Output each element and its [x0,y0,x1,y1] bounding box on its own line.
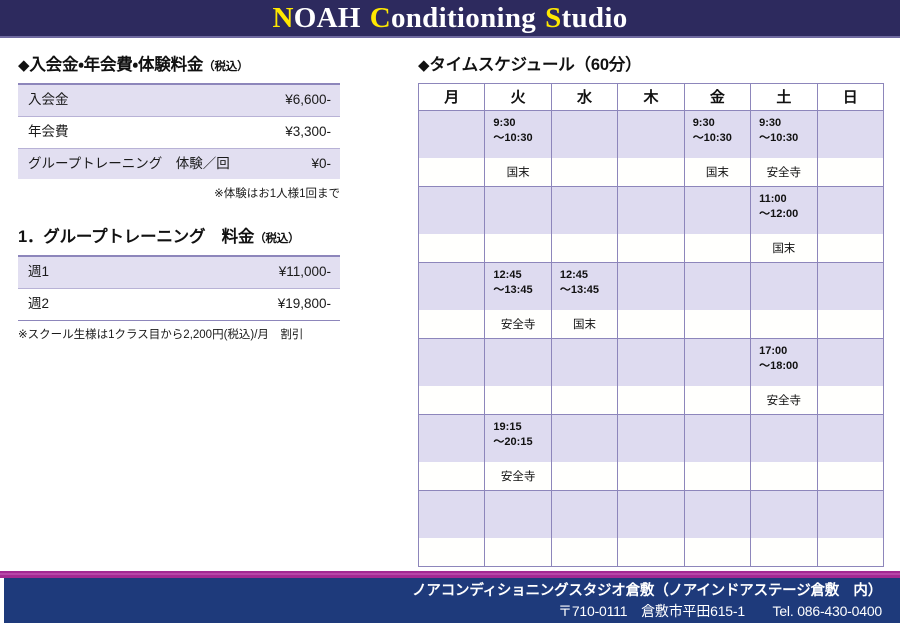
schedule-time-line: 〜10:30 [759,131,816,146]
schedule-empty-cell [419,158,485,187]
schedule-time-line: 〜20:15 [493,435,550,450]
fees-note: ※体験はお1人様1回まで [18,185,340,201]
schedule-empty-cell [419,186,485,234]
schedule-empty-cell [485,338,551,386]
group-training-section: 1．グループトレーニング 料金（税込） 週1 ¥11,000- 週2 ¥19,8… [18,228,340,342]
schedule-empty-cell [817,338,883,386]
fees-heading: ◆入会金・年会費・体験料金（税込） [18,56,340,76]
schedule-instructor-row: 安全寺国末 [419,310,884,339]
schedule-empty-cell [618,110,684,158]
schedule-empty-cell [618,386,684,415]
diamond-bullet-icon: ◆ [18,57,29,74]
schedule-time-line: 〜18:00 [759,359,816,374]
schedule-time-line: 11:00 [759,192,816,207]
schedule-empty-cell [817,234,883,263]
schedule-empty-cell [618,414,684,462]
day-header-sun: 日 [817,83,883,110]
day-header-fri: 金 [684,83,750,110]
schedule-empty-cell [551,414,617,462]
schedule-time-cell[interactable]: 12:45〜13:45 [551,262,617,310]
header-underline [0,36,900,38]
schedule-empty-cell [419,262,485,310]
schedule-empty-cell [817,158,883,187]
schedule-empty-cell [684,234,750,263]
schedule-time-cell[interactable]: 9:30〜10:30 [751,110,817,158]
schedule-instructor-row: 安全寺 [419,386,884,415]
schedule-empty-cell [618,310,684,339]
schedule-empty-cell [485,234,551,263]
schedule-empty-cell [419,490,485,538]
schedule-empty-cell [817,490,883,538]
schedule-instructor-cell[interactable]: 国末 [684,158,750,187]
schedule-instructor-row: 国末 [419,234,884,263]
schedule-time-line: 19:15 [493,420,550,435]
footer-address-phone: 〒710-0111 倉敷市平田615-1 Tel. 086-430-0400 [4,602,882,621]
fee-value: ¥6,600- [179,84,340,116]
schedule-empty-cell [419,414,485,462]
schedule-time-line: 〜12:00 [759,207,816,222]
table-row: グループトレーニング 体験／回 ¥0- [18,148,340,179]
footer-studio-name: ノアコンディショニングスタジオ倉敷（ノアインドアステージ倉敷 内） [4,582,882,602]
schedule-empty-cell [817,110,883,158]
schedule-instructor-cell[interactable]: 安全寺 [485,310,551,339]
schedule-empty-cell [817,538,883,567]
schedule-empty-cell [751,262,817,310]
fees-heading-note: （税込） [203,61,248,73]
day-header-mon: 月 [419,83,485,110]
plan-label: 週2 [18,289,179,320]
schedule-time-row: 19:15〜20:15 [419,414,884,462]
schedule-instructor-row: 国末国末安全寺 [419,158,884,187]
schedule-time-cell[interactable]: 19:15〜20:15 [485,414,551,462]
page-footer: ノアコンディショニングスタジオ倉敷（ノアインドアステージ倉敷 内） 〒710-0… [4,578,900,623]
plan-value: ¥19,800- [179,289,340,320]
page-title: NOAHConditioningStudio [272,4,627,33]
schedule-time-line: 9:30 [759,116,816,131]
schedule-empty-cell [551,538,617,567]
schedule-empty-cell [485,186,551,234]
schedule-empty-cell [684,414,750,462]
schedule-empty-cell [551,338,617,386]
schedule-time-cell[interactable]: 11:00〜12:00 [751,186,817,234]
schedule-empty-cell [618,538,684,567]
schedule-time-cell[interactable]: 17:00〜18:00 [751,338,817,386]
schedule-time-line: 17:00 [759,344,816,359]
schedule-empty-cell [618,262,684,310]
schedule-empty-cell [751,538,817,567]
schedule-instructor-cell[interactable]: 安全寺 [485,462,551,491]
schedule-time-cell[interactable]: 9:30〜10:30 [684,110,750,158]
table-row: 週1 ¥11,000- [18,256,340,288]
schedule-empty-cell [751,310,817,339]
title-capital: N [272,2,293,34]
title-word: onditioning [391,2,536,34]
fees-heading-text: 入会金・年会費・体験料金 [29,56,203,74]
group-training-heading-note: （税込） [254,233,299,245]
schedule-instructor-row: 安全寺 [419,462,884,491]
schedule-time-line: 〜10:30 [493,131,550,146]
schedule-empty-cell [551,158,617,187]
schedule-empty-cell [551,490,617,538]
schedule-time-row: 9:30〜10:309:30〜10:309:30〜10:30 [419,110,884,158]
schedule-empty-cell [751,490,817,538]
schedule-time-line: 9:30 [693,116,750,131]
plan-value: ¥11,000- [179,256,340,288]
schedule-empty-cell [551,462,617,491]
title-capital: C [370,2,391,34]
diamond-bullet-icon: ◆ [418,57,429,74]
schedule-time-line: 〜10:30 [693,131,750,146]
schedule-section: ◆タイムスケジュール（60分） 月 火 水 木 金 土 日 9:30〜10:30… [418,56,884,567]
schedule-empty-cell [817,186,883,234]
schedule-instructor-cell[interactable]: 国末 [551,310,617,339]
group-training-heading-text: 1．グループトレーニング 料金 [18,228,254,246]
schedule-empty-cell [817,462,883,491]
schedule-empty-cell [551,386,617,415]
schedule-instructor-cell[interactable]: 安全寺 [751,158,817,187]
fee-value: ¥3,300- [179,116,340,148]
schedule-empty-cell [618,462,684,491]
schedule-empty-cell [684,338,750,386]
schedule-time-line: 12:45 [493,268,550,283]
schedule-empty-cell [751,414,817,462]
table-row: 週2 ¥19,800- [18,289,340,320]
fee-label: グループトレーニング 体験／回 [18,148,179,179]
plan-label: 週1 [18,256,179,288]
group-training-table: 週1 ¥11,000- 週2 ¥19,800- [18,255,340,320]
schedule-time-row [419,490,884,538]
schedule-empty-cell [485,490,551,538]
schedule-empty-cell [485,538,551,567]
schedule-time-row: 11:00〜12:00 [419,186,884,234]
schedule-header-row: 月 火 水 木 金 土 日 [419,83,884,110]
schedule-instructor-cell[interactable]: 国末 [751,234,817,263]
schedule-time-line: 〜13:45 [560,283,617,298]
schedule-empty-cell [684,310,750,339]
schedule-empty-cell [419,538,485,567]
left-column: ◆入会金・年会費・体験料金（税込） 入会金 ¥6,600- 年会費 ¥3,300… [18,56,340,342]
schedule-empty-cell [618,234,684,263]
schedule-empty-cell [684,262,750,310]
schedule-heading-text: タイムスケジュール（60分） [429,56,641,74]
schedule-time-line: 9:30 [493,116,550,131]
schedule-instructor-cell[interactable]: 安全寺 [751,386,817,415]
schedule-empty-cell [618,490,684,538]
title-word: OAH [294,2,361,34]
page-header: NOAHConditioningStudio [0,0,900,36]
schedule-time-line: 〜13:45 [493,283,550,298]
schedule-empty-cell [551,234,617,263]
schedule-empty-cell [751,462,817,491]
day-header-tue: 火 [485,83,551,110]
day-header-thu: 木 [618,83,684,110]
table-row: 年会費 ¥3,300- [18,116,340,148]
group-training-heading: 1．グループトレーニング 料金（税込） [18,228,340,248]
schedule-empty-cell [817,386,883,415]
schedule-empty-cell [684,538,750,567]
schedule-time-line: 12:45 [560,268,617,283]
schedule-empty-cell [684,186,750,234]
schedule-body: 9:30〜10:309:30〜10:309:30〜10:30国末国末安全寺11:… [419,110,884,566]
fees-table: 入会金 ¥6,600- 年会費 ¥3,300- グループトレーニング 体験／回 … [18,83,340,180]
schedule-instructor-cell[interactable]: 国末 [485,158,551,187]
schedule-empty-cell [419,234,485,263]
footer-accent-bar [0,571,900,578]
day-header-wed: 水 [551,83,617,110]
title-word: tudio [562,2,628,34]
schedule-empty-cell [684,386,750,415]
schedule-empty-cell [551,186,617,234]
schedule-heading: ◆タイムスケジュール（60分） [418,56,884,76]
schedule-empty-cell [419,110,485,158]
table-row: 入会金 ¥6,600- [18,84,340,116]
schedule-time-row: 12:45〜13:4512:45〜13:45 [419,262,884,310]
schedule-empty-cell [684,490,750,538]
schedule-time-row: 17:00〜18:00 [419,338,884,386]
schedule-empty-cell [419,386,485,415]
schedule-time-cell[interactable]: 9:30〜10:30 [485,110,551,158]
schedule-empty-cell [419,310,485,339]
fee-label: 年会費 [18,116,179,148]
fee-label: 入会金 [18,84,179,116]
schedule-empty-cell [551,110,617,158]
schedule-empty-cell [618,186,684,234]
schedule-empty-cell [817,262,883,310]
schedule-empty-cell [817,310,883,339]
schedule-empty-cell [419,338,485,386]
title-capital: S [545,2,561,34]
schedule-empty-cell [618,158,684,187]
schedule-empty-cell [817,414,883,462]
schedule-empty-cell [419,462,485,491]
schedule-empty-cell [618,338,684,386]
schedule-instructor-row [419,538,884,567]
group-training-note: ※スクール生様は1クラス目から2,200円(税込)/月 割引 [18,320,340,342]
schedule-time-cell[interactable]: 12:45〜13:45 [485,262,551,310]
schedule-table: 月 火 水 木 金 土 日 9:30〜10:309:30〜10:309:30〜1… [418,83,884,567]
schedule-empty-cell [485,386,551,415]
day-header-sat: 土 [751,83,817,110]
schedule-empty-cell [684,462,750,491]
